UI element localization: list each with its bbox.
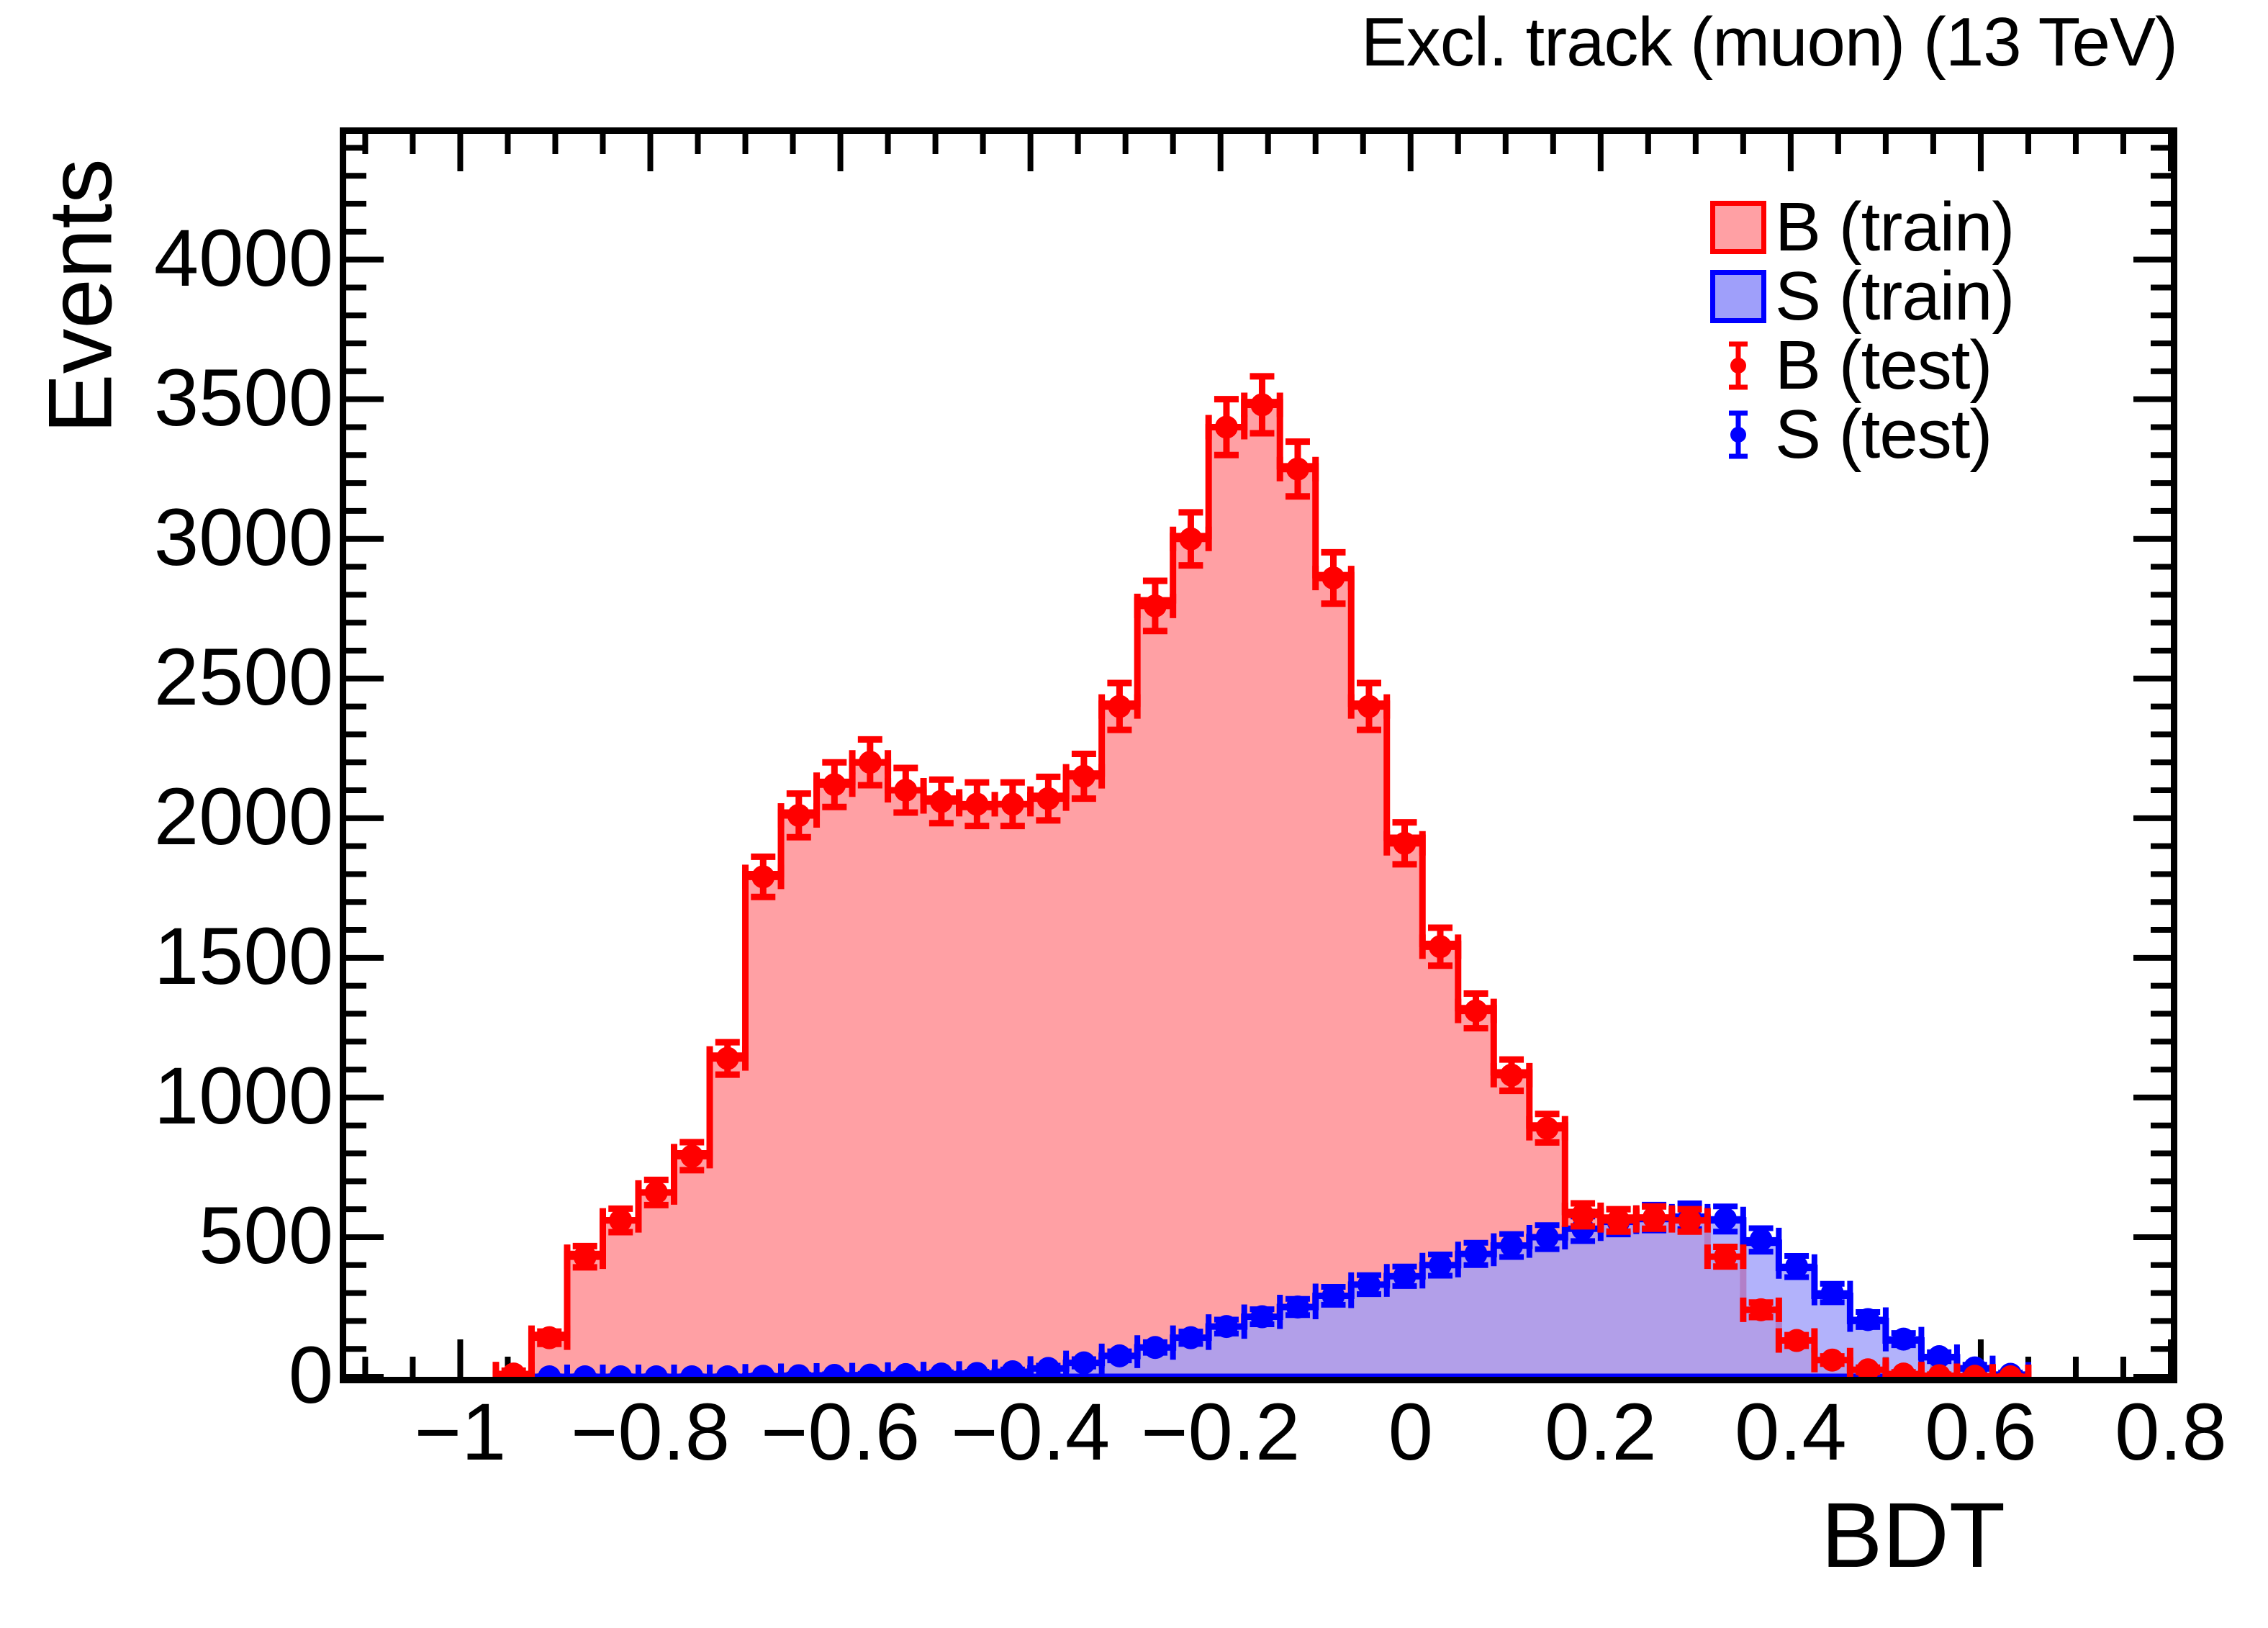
legend-label: B (train) (1775, 193, 2014, 262)
y-tick-label: 1500 (60, 916, 333, 997)
data-point (1215, 415, 1238, 438)
y-tick-label: 2000 (60, 777, 333, 857)
background-train-histogram (496, 402, 2028, 1377)
data-point (1286, 1295, 1309, 1319)
data-point (1643, 1206, 1666, 1229)
data-point (1821, 1282, 1844, 1305)
data-point (1250, 1306, 1273, 1329)
data-point (1322, 1284, 1345, 1307)
data-point (1393, 832, 1416, 855)
data-point (1892, 1328, 1915, 1351)
data-point (787, 804, 810, 827)
data-point (965, 792, 988, 815)
data-point (751, 865, 774, 888)
data-point (1607, 1209, 1630, 1232)
data-point (574, 1245, 597, 1268)
legend-label: S (test) (1775, 400, 1992, 469)
data-point (538, 1326, 561, 1349)
data-point (1357, 1273, 1381, 1296)
data-point (894, 779, 917, 802)
legend-swatch-icon (1710, 270, 1766, 323)
data-point (1536, 1226, 1559, 1249)
data-point (1179, 1326, 1202, 1349)
data-point (930, 790, 953, 813)
y-tick-label: 4000 (60, 218, 333, 299)
data-point (1072, 1352, 1095, 1375)
data-point (1750, 1298, 1773, 1321)
data-point (1500, 1064, 1523, 1087)
data-point (1679, 1209, 1702, 1232)
legend-item[interactable]: S (train) (1697, 262, 2158, 331)
data-point (1179, 528, 1202, 551)
data-point (823, 773, 846, 796)
data-point (1393, 1265, 1416, 1288)
legend-item[interactable]: B (test) (1697, 331, 2158, 400)
legend-swatch-icon (1710, 201, 1766, 254)
data-point (1571, 1203, 1594, 1226)
legend-item[interactable]: B (train) (1697, 193, 2158, 262)
data-point (1250, 393, 1273, 416)
data-point (1785, 1255, 1808, 1278)
y-tick-label: 3500 (60, 358, 333, 438)
y-tick-label: 2500 (60, 637, 333, 718)
lumi-title: Excl. track (muon) (13 TeV) (1361, 3, 2177, 82)
data-point (1429, 935, 1452, 958)
data-point (1785, 1329, 1808, 1352)
data-point (1286, 458, 1309, 481)
data-point (1144, 594, 1167, 618)
legend-marker-icon (1710, 408, 1766, 461)
y-tick-label: 1000 (60, 1056, 333, 1136)
data-point (1465, 1000, 1488, 1023)
x-tick-label: 0.8 (2041, 1392, 2268, 1473)
data-point (1108, 1344, 1131, 1367)
legend-marker-icon (1710, 339, 1766, 392)
data-point (1357, 695, 1381, 718)
data-point (645, 1181, 668, 1204)
data-point (1714, 1245, 1737, 1268)
data-point (680, 1144, 703, 1167)
data-point (1001, 792, 1024, 815)
legend: B (train)S (train)B (test)S (test) (1697, 193, 2158, 474)
data-point (1856, 1308, 1879, 1331)
data-point (1536, 1117, 1559, 1140)
data-point (1714, 1208, 1737, 1231)
x-axis-title: BDT (1821, 1483, 2005, 1588)
y-tick-label: 0 (60, 1335, 333, 1416)
data-point (1215, 1315, 1238, 1338)
legend-label: S (train) (1775, 262, 2014, 331)
data-point (1429, 1254, 1452, 1277)
legend-label: B (test) (1775, 331, 1992, 400)
data-point (1072, 765, 1095, 788)
data-point (1144, 1336, 1167, 1359)
data-point (1322, 566, 1345, 589)
plot-canvas: Excl. track (muon) (13 TeV) Events BDT C… (0, 0, 2268, 1628)
data-point (1500, 1234, 1523, 1257)
data-point (1750, 1229, 1773, 1252)
y-tick-label: 3000 (60, 497, 333, 578)
data-point (716, 1047, 739, 1070)
legend-item[interactable]: S (test) (1697, 400, 2158, 469)
data-point (1465, 1242, 1488, 1265)
data-point (1821, 1349, 1844, 1372)
data-point (609, 1209, 632, 1232)
data-point (1036, 787, 1060, 810)
y-tick-label: 500 (60, 1195, 333, 1276)
data-point (1108, 695, 1131, 718)
data-point (859, 751, 882, 774)
